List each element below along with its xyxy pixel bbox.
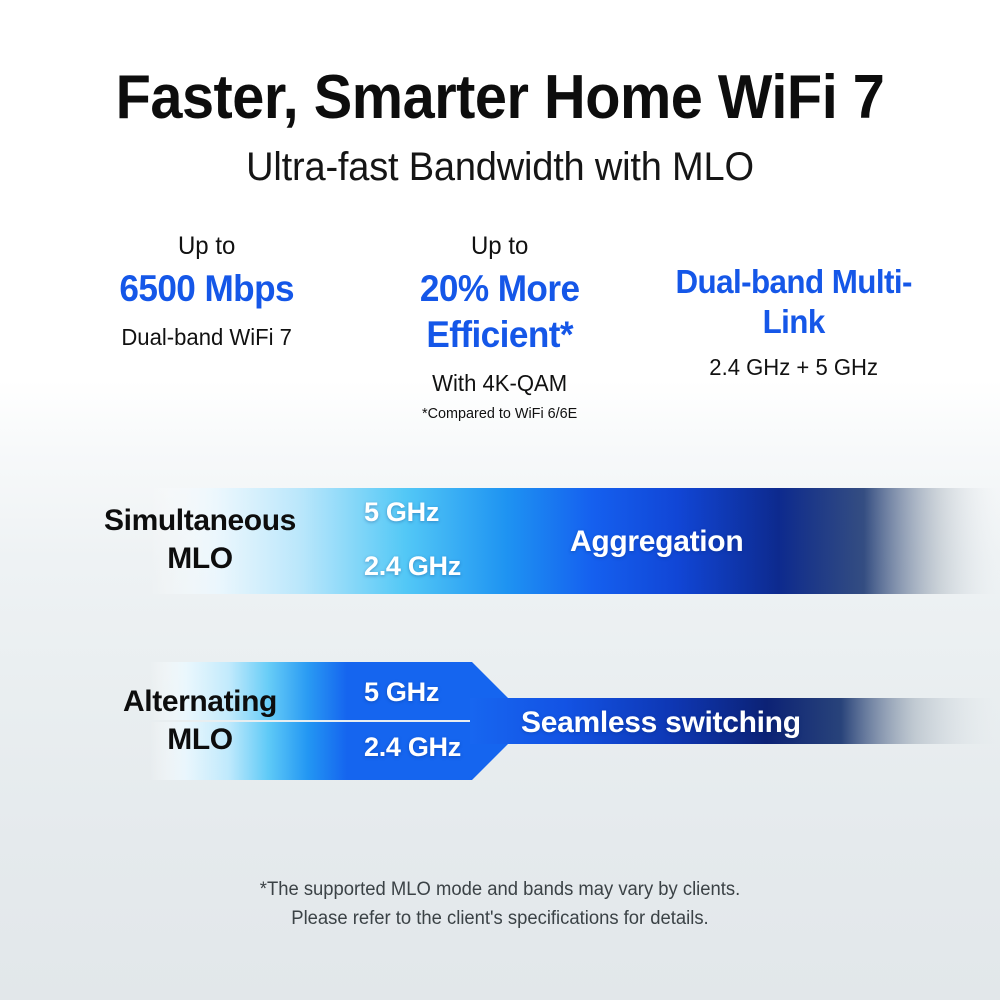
stat-subtext: With 4K-QAM: [359, 368, 641, 398]
stat-prefix: Up to: [359, 230, 641, 262]
alternating-mlo-graphic: [0, 648, 1000, 794]
stat-headline: 6500 Mbps: [67, 266, 346, 312]
page-footnote: *The supported MLO mode and bands may va…: [15, 875, 985, 933]
stat-headline: 20% More Efficient*: [361, 266, 640, 358]
simultaneous-mlo-graphic: [0, 470, 1000, 610]
footnote-line-2: Please refer to the client's specificati…: [15, 904, 985, 933]
diagram-simultaneous-mlo: Simultaneous MLO: [0, 470, 1000, 610]
stat-prefix: Up to: [66, 230, 348, 262]
diagram-alternating-mlo: Alternating MLO: [0, 648, 1000, 794]
stat-headline-line1: Dual-band: [675, 263, 823, 300]
stat-column-efficiency: Up to 20% More Efficient* With 4K-QAM *C…: [353, 230, 646, 390]
stat-column-multilink: Dual-band Multi-Link 2.4 GHz + 5 GHz: [647, 230, 940, 390]
infographic-page: Faster, Smarter Home WiFi 7 Ultra-fast B…: [0, 0, 1000, 1000]
stat-subtext: 2.4 GHz + 5 GHz: [653, 352, 935, 382]
stat-headline: Dual-band Multi-Link: [654, 262, 933, 342]
stat-column-speed: Up to 6500 Mbps Dual-band WiFi 7: [60, 230, 353, 390]
stat-subtext: Dual-band WiFi 7: [66, 322, 348, 352]
stats-row: Up to 6500 Mbps Dual-band WiFi 7 Up to 2…: [60, 230, 940, 390]
page-title: Faster, Smarter Home WiFi 7: [35, 62, 965, 134]
page-subtitle: Ultra-fast Bandwidth with MLO: [25, 142, 975, 192]
stat-footnote: *Compared to WiFi 6/6E: [359, 404, 641, 424]
footnote-line-1: *The supported MLO mode and bands may va…: [15, 875, 985, 904]
